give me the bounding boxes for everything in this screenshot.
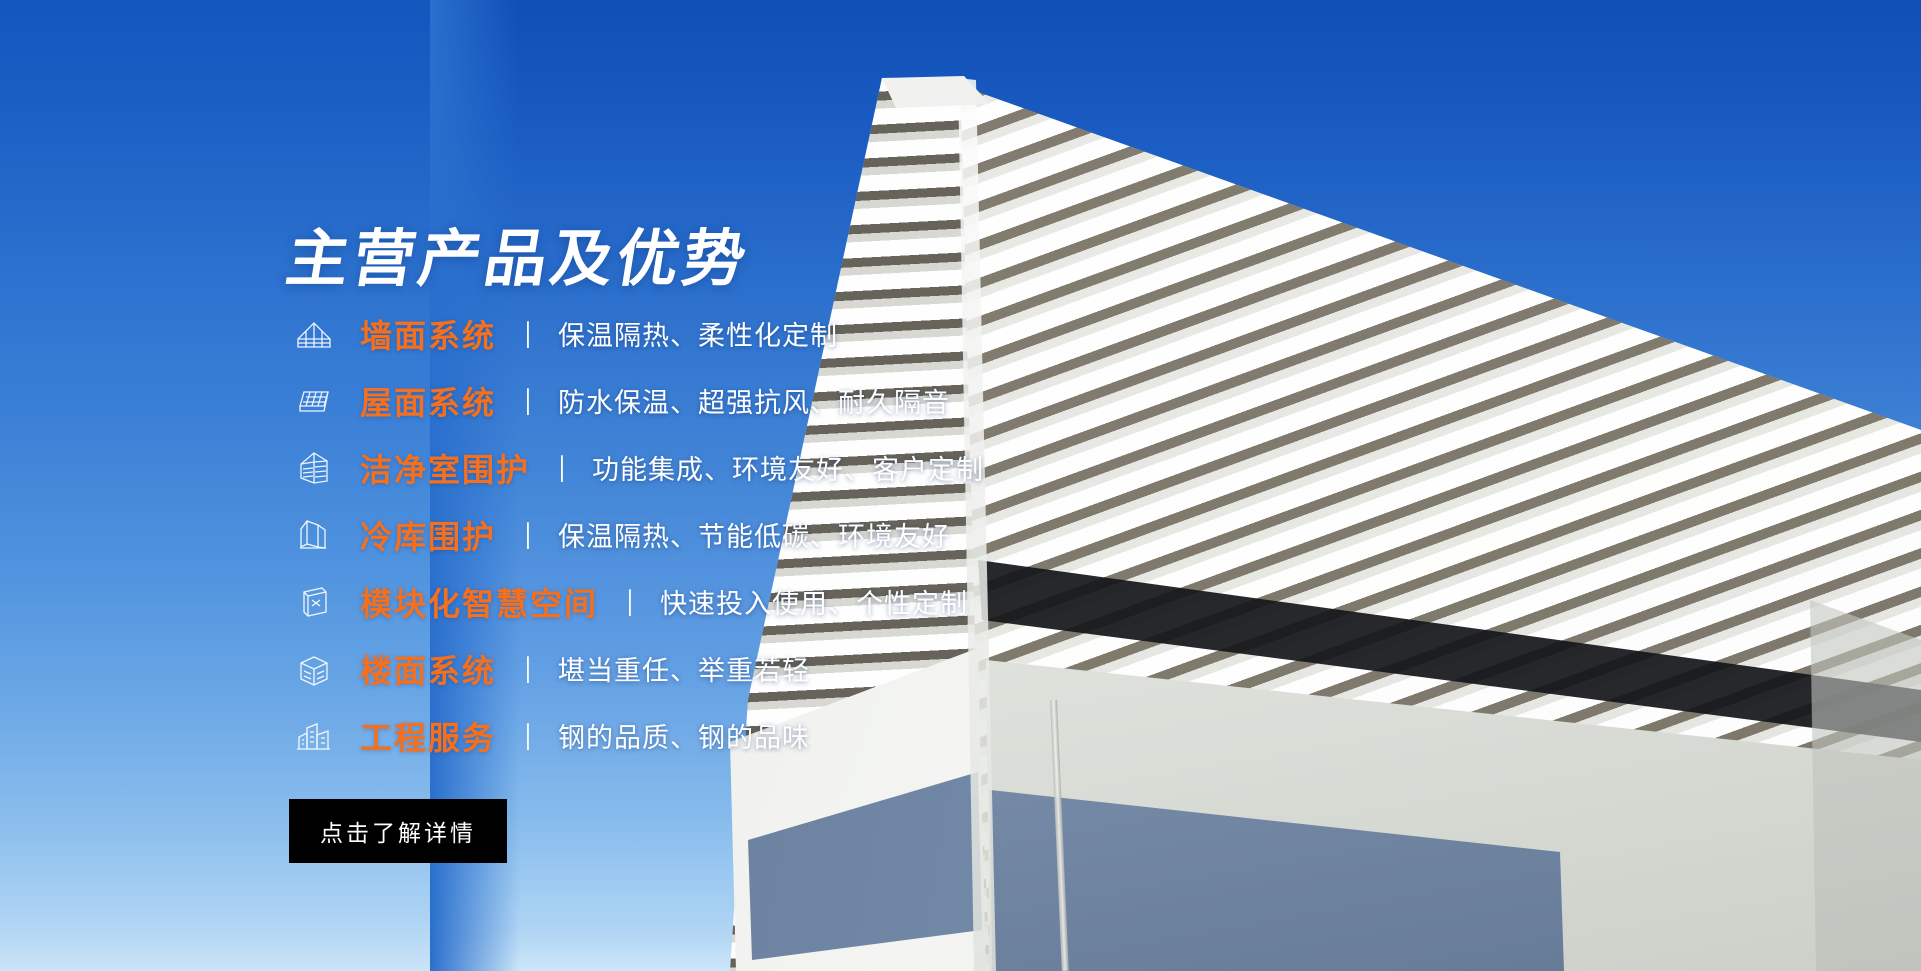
product-benefits: 钢的品质、钢的品味 [558, 716, 810, 755]
learn-more-button[interactable]: 点击了解详情 [289, 799, 507, 863]
floor-system-icon [286, 647, 342, 691]
product-name: 屋面系统 [360, 378, 496, 424]
hero-banner: 主营产品及优势 墙面系统 丨 保温隔热、柔性化定制 [0, 0, 1921, 971]
cleanroom-envelope-icon [286, 446, 342, 490]
cold-storage-envelope-icon [286, 513, 342, 557]
product-benefits: 防水保温、超强抗风、耐久隔音 [558, 381, 950, 420]
product-benefits: 堪当重任、举重若轻 [558, 649, 810, 688]
hero-content: 主营产品及优势 墙面系统 丨 保温隔热、柔性化定制 [0, 0, 1100, 971]
wall-system-icon [286, 312, 342, 356]
product-benefits: 保温隔热、节能低碳、环境友好 [558, 515, 950, 554]
product-name: 模块化智慧空间 [360, 579, 598, 625]
page-title: 主营产品及优势 [281, 208, 757, 298]
modular-smart-space-icon [286, 580, 342, 624]
list-item[interactable]: 工程服务 丨 钢的品质、钢的品味 [286, 702, 1106, 769]
list-item[interactable]: 墙面系统 丨 保温隔热、柔性化定制 [286, 300, 1106, 367]
product-benefits: 功能集成、环境友好、客户定制 [592, 448, 984, 487]
list-item[interactable]: 模块化智慧空间 丨 快速投入使用、个性定制 [286, 568, 1106, 635]
separator: 丨 [622, 582, 637, 622]
list-item[interactable]: 洁净室围护 丨 功能集成、环境友好、客户定制 [286, 434, 1106, 501]
separator: 丨 [520, 649, 535, 689]
product-name: 工程服务 [360, 713, 496, 759]
product-benefits: 快速投入使用、个性定制 [660, 582, 968, 621]
separator: 丨 [520, 515, 535, 555]
product-name: 楼面系统 [360, 646, 496, 692]
list-item[interactable]: 楼面系统 丨 堪当重任、举重若轻 [286, 635, 1106, 702]
list-item[interactable]: 屋面系统 丨 防水保温、超强抗风、耐久隔音 [286, 367, 1106, 434]
product-benefits: 保温隔热、柔性化定制 [558, 314, 838, 353]
engineering-service-icon [286, 714, 342, 758]
separator: 丨 [520, 314, 535, 354]
separator: 丨 [520, 716, 535, 756]
product-name: 墙面系统 [360, 311, 496, 357]
separator: 丨 [554, 448, 569, 488]
product-list: 墙面系统 丨 保温隔热、柔性化定制 屋面系统 丨 防水保温、超强抗风、耐久隔音 [286, 300, 1106, 769]
list-item[interactable]: 冷库围护 丨 保温隔热、节能低碳、环境友好 [286, 501, 1106, 568]
separator: 丨 [520, 381, 535, 421]
product-name: 洁净室围护 [360, 445, 530, 491]
product-name: 冷库围护 [360, 512, 496, 558]
roof-system-icon [286, 379, 342, 423]
